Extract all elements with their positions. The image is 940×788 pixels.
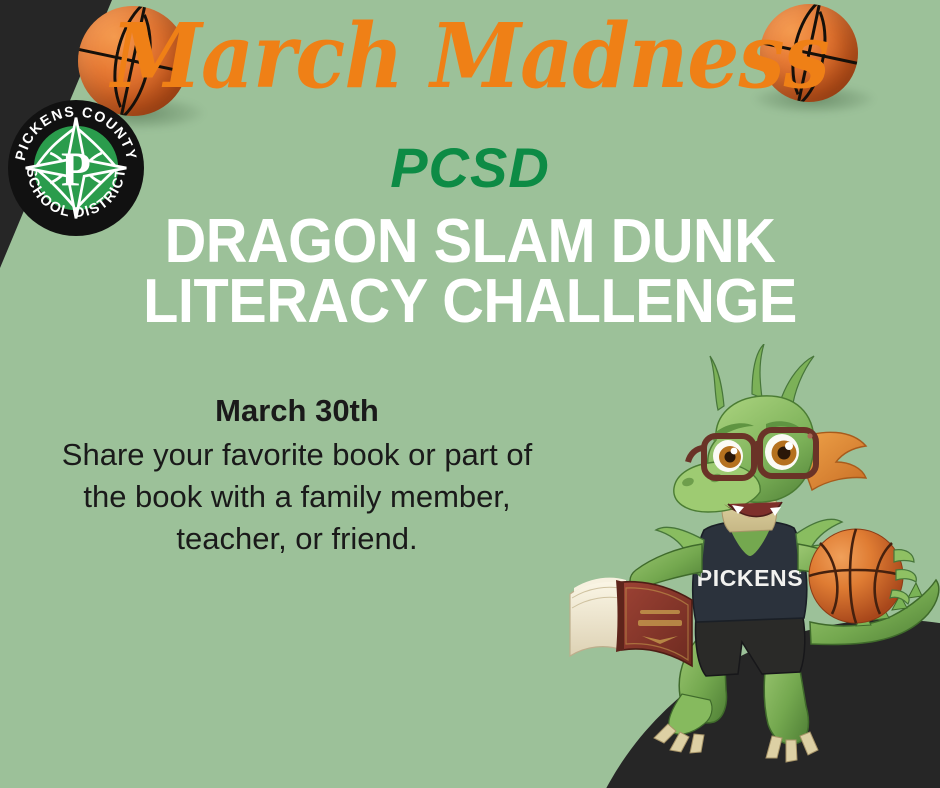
open-book-icon xyxy=(570,578,692,666)
instruction-line-1: Share your favorite book or part of xyxy=(0,434,594,476)
instruction-line-2: the book with a family member, xyxy=(0,476,594,518)
glasses-screw xyxy=(807,433,812,438)
org-abbreviation: PCSD xyxy=(0,140,940,196)
jersey-text: PICKENS xyxy=(697,565,803,591)
dragon-horn-2 xyxy=(752,344,764,398)
event-date: March 30th xyxy=(0,394,594,428)
march-madness-literacy-poster: P PICKENS COUNTY SCHOOL DISTRICT March M… xyxy=(0,0,940,788)
dragon-head xyxy=(674,344,816,519)
page-title: DRAGON SLAM DUNK LITERACY CHALLENGE xyxy=(33,212,907,332)
page-title-line1: DRAGON SLAM DUNK xyxy=(165,207,776,276)
script-title: March Madness xyxy=(0,13,940,102)
instruction-line-3: teacher, or friend. xyxy=(0,518,594,560)
instruction-text: Share your favorite book or part of the … xyxy=(0,434,594,560)
dragon-mascot: PICKENS xyxy=(556,344,940,774)
dragon-eye-left xyxy=(713,440,743,472)
dragon-horn-1 xyxy=(710,356,724,410)
dragon-jersey: PICKENS xyxy=(693,521,807,622)
dragon-eye-right xyxy=(765,434,799,470)
page-title-line2: LITERACY CHALLENGE xyxy=(33,272,907,332)
